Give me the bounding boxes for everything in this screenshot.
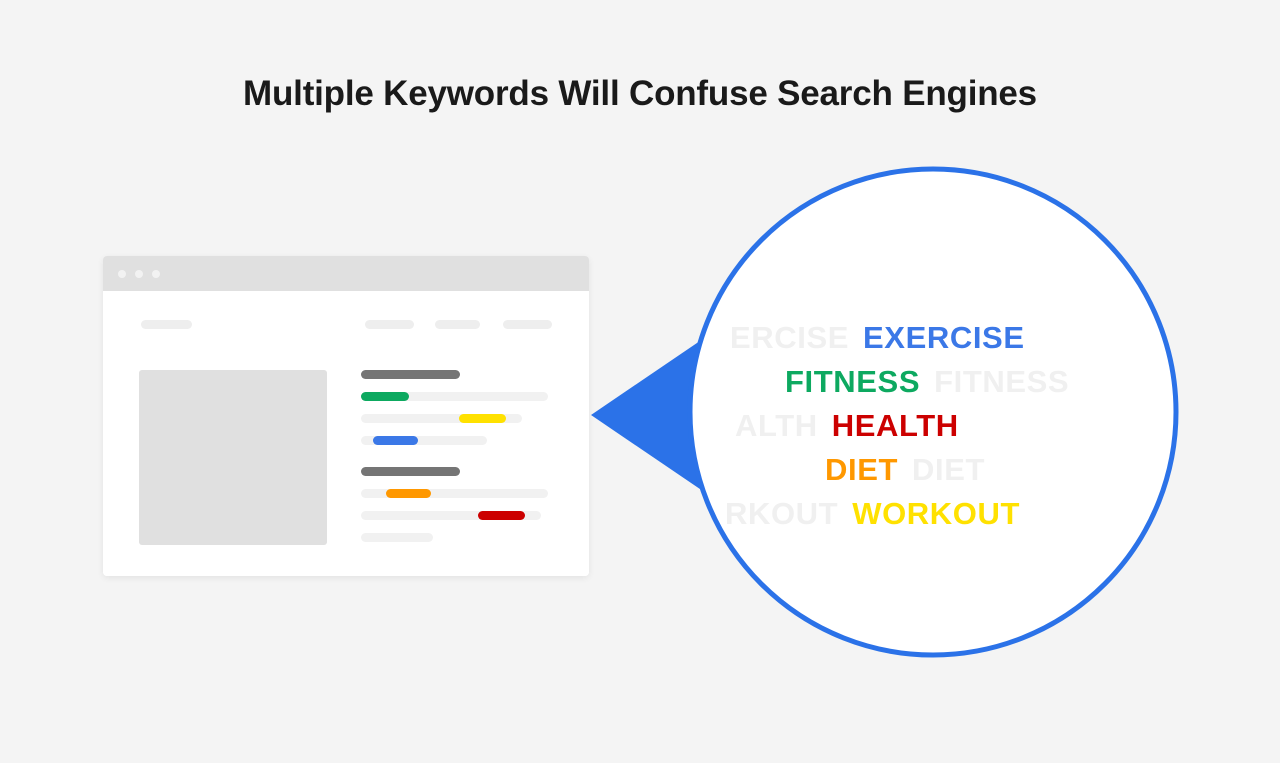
logo-placeholder[interactable] [141, 320, 192, 329]
text-line-red [361, 511, 541, 520]
browser-titlebar [103, 256, 589, 291]
nav-item-3-placeholder[interactable] [503, 320, 552, 329]
text-line-green [361, 392, 548, 401]
magnifier-shape [585, 160, 1185, 665]
image-placeholder [139, 370, 327, 545]
heading-line-2 [361, 467, 460, 476]
page-title: Multiple Keywords Will Confuse Search En… [0, 72, 1280, 116]
text-line-plain [361, 533, 433, 542]
keyword-highlight-workout [459, 414, 506, 423]
keyword-highlight-fitness [361, 392, 409, 401]
text-line-orange [361, 489, 548, 498]
window-minimize-dot-icon[interactable] [135, 270, 143, 278]
heading-line [361, 370, 460, 379]
window-maximize-dot-icon[interactable] [152, 270, 160, 278]
window-close-dot-icon[interactable] [118, 270, 126, 278]
wireframe-navbar [103, 291, 589, 331]
webpage-wireframe [103, 256, 589, 576]
browser-content-area [103, 291, 589, 576]
text-line-yellow [361, 414, 522, 423]
keyword-highlight-health [478, 511, 525, 520]
nav-item-1-placeholder[interactable] [365, 320, 414, 329]
text-line-blue [361, 436, 487, 445]
magnifier-callout: ERCISEEXERCISEFITNESSFITNESSALTHHEALTHDI… [585, 160, 1185, 665]
magnifier-lens-circle [690, 169, 1176, 655]
keyword-highlight-exercise [373, 436, 418, 445]
nav-item-2-placeholder[interactable] [435, 320, 480, 329]
keyword-highlight-diet [386, 489, 431, 498]
